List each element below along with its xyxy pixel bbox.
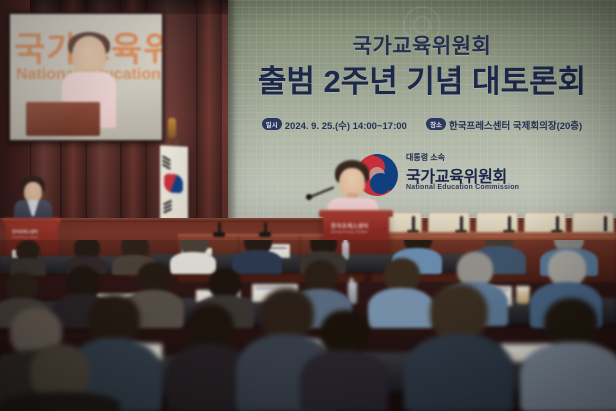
banner-meta-line: 일시2024. 9. 25.(수) 14:00~17:00 장소한국프레스센터 … <box>228 118 616 132</box>
person-shoulders <box>520 342 616 411</box>
conference-photo-scene: 국가교육위원회 National Education Commission 국가… <box>0 0 616 411</box>
flag-taegeuk-blue <box>173 183 183 193</box>
projection-screen: 국가교육위원회 National Education Commission <box>8 12 164 142</box>
podium-logo-en: Korea Press Center <box>331 230 368 234</box>
person-head <box>430 284 488 340</box>
event-banner-backdrop: 국가교육위원회 출범 2주년 기념 대토론회 일시2024. 9. 25.(수)… <box>228 0 616 218</box>
person-head <box>548 250 586 286</box>
audience-person <box>300 310 388 411</box>
banner-datetime: 2024. 9. 25.(수) 14:00~17:00 <box>285 121 407 132</box>
person-head <box>457 252 493 286</box>
table-microphone <box>604 216 607 232</box>
audience-person <box>404 284 514 411</box>
banner-location: 한국프레스센터 국제회의장(20층) <box>449 121 582 132</box>
microphone-base <box>259 232 271 237</box>
logo-affiliation: 대통령 소속 <box>406 152 445 163</box>
audience-area <box>0 240 616 411</box>
flag-taegeuk-red <box>164 173 174 183</box>
banner-left-shadow <box>228 0 238 218</box>
audience-person <box>10 240 46 274</box>
person-head <box>544 298 598 348</box>
podium-logo-kr: 한국프레스센터 <box>331 222 369 230</box>
left-podium-logo-en: Korea Press Center <box>12 235 38 239</box>
microphone-base <box>213 232 225 237</box>
person-shoulders <box>300 350 388 411</box>
person-head <box>88 294 140 344</box>
interpreter-figure <box>14 176 52 222</box>
location-badge-icon: 장소 <box>426 118 446 130</box>
microphone-head-icon <box>306 194 312 200</box>
wall-lamp-icon <box>168 118 176 138</box>
screen-glare <box>10 14 162 140</box>
commission-logo-lockup: 대통령 소속 국가교육위원회 National Education Commis… <box>356 150 536 202</box>
audience-person <box>0 344 120 411</box>
logo-name-en: National Education Commission <box>406 184 519 191</box>
datetime-badge-icon: 일시 <box>262 118 282 130</box>
projection-screen-surface: 국가교육위원회 National Education Commission <box>10 14 162 140</box>
audience-person <box>520 298 616 411</box>
banner-headline: 출범 2주년 기념 대토론회 <box>228 56 616 101</box>
person-shoulders <box>0 392 120 411</box>
person-shoulders <box>404 334 514 411</box>
